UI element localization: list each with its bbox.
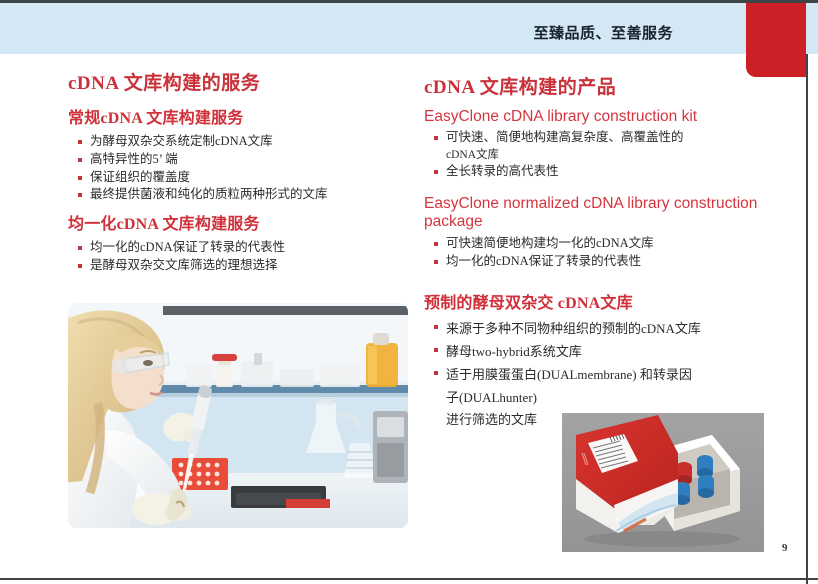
lab-scientist-photo	[68, 303, 408, 528]
list-item-continuation: 子(DUALhunter)	[446, 387, 800, 409]
list-item-line: 适于用膜蛋蛋白(DUALmembrane) 和转录因	[446, 367, 692, 382]
list-item: 可快速、简便地构建高复杂度、高覆盖性的 cDNA文库	[434, 129, 800, 163]
right-column-title: cDNA 文库构建的产品	[424, 72, 800, 99]
list-item: 是酵母双杂交文库筛选的理想选择	[78, 257, 416, 275]
slide-canvas: 至臻品质、至善服务 cDNA 文库构建的服务 常规cDNA 文库构建服务 为酵母…	[0, 0, 818, 584]
header-red-accent-block	[746, 3, 806, 77]
left-section-standard-bullets: 为酵母双杂交系统定制cDNA文库 高特异性的5’ 端 保证组织的覆盖度 最终提供…	[68, 133, 416, 204]
list-item: 全长转录的高代表性	[434, 163, 800, 181]
list-item: 最终提供菌液和纯化的质粒两种形式的文库	[78, 186, 416, 204]
left-section-normalized-bullets: 均一化的cDNA保证了转录的代表性 是酵母双杂交文库筛选的理想选择	[68, 239, 416, 275]
header-tagline: 至臻品质、至善服务	[533, 22, 673, 43]
lab-photo-illustration	[68, 303, 408, 528]
left-column-title: cDNA 文库构建的服务	[68, 68, 416, 95]
list-item: 为酵母双杂交系统定制cDNA文库	[78, 133, 416, 151]
list-item: 均一化的cDNA保证了转录的代表性	[78, 239, 416, 257]
left-column: cDNA 文库构建的服务 常规cDNA 文库构建服务 为酵母双杂交系统定制cDN…	[68, 68, 416, 281]
right-section-package-heading: EasyClone normalized cDNA library constr…	[424, 195, 800, 231]
right-column: cDNA 文库构建的产品 EasyClone cDNA library cons…	[424, 72, 800, 438]
list-item-continuation: cDNA文库	[446, 147, 800, 163]
frame-right-border	[806, 0, 808, 584]
list-item: 酵母two-hybrid系统文库	[434, 341, 800, 363]
right-section-premade: 预制的酵母双杂交 cDNA文库 来源于多种不同物种组织的预制的cDNA文库 酵母…	[424, 289, 800, 432]
left-section-standard-heading: 常规cDNA 文库构建服务	[68, 104, 416, 128]
page-number: 9	[782, 542, 788, 554]
right-section-kit-bullets: 可快速、简便地构建高复杂度、高覆盖性的 cDNA文库 全长转录的高代表性	[424, 129, 800, 181]
right-section-package-bullets: 可快速简便地构建均一化的cDNA文库 均一化的cDNA保证了转录的代表性	[424, 235, 800, 271]
right-section-package: EasyClone normalized cDNA library constr…	[424, 195, 800, 271]
header-band	[0, 3, 818, 54]
left-section-normalized: 均一化cDNA 文库构建服务 均一化的cDNA保证了转录的代表性 是酵母双杂交文…	[68, 210, 416, 275]
list-item: 可快速简便地构建均一化的cDNA文库	[434, 235, 800, 253]
list-item: 保证组织的覆盖度	[78, 169, 416, 187]
right-section-kit-heading: EasyClone cDNA library construction kit	[424, 108, 800, 126]
list-item-line: 可快速、简便地构建高复杂度、高覆盖性的	[446, 130, 684, 144]
right-section-premade-heading: 预制的酵母双杂交 cDNA文库	[424, 289, 800, 313]
product-kit-photo	[562, 413, 764, 552]
list-item: 均一化的cDNA保证了转录的代表性	[434, 253, 800, 271]
kit-box-illustration	[562, 413, 764, 552]
list-item: 来源于多种不同物种组织的预制的cDNA文库	[434, 318, 800, 340]
left-section-standard: 常规cDNA 文库构建服务 为酵母双杂交系统定制cDNA文库 高特异性的5’ 端…	[68, 104, 416, 204]
right-section-kit: EasyClone cDNA library construction kit …	[424, 108, 800, 181]
left-section-normalized-heading: 均一化cDNA 文库构建服务	[68, 210, 416, 234]
frame-bottom-border	[0, 578, 818, 580]
list-item: 高特异性的5’ 端	[78, 151, 416, 169]
